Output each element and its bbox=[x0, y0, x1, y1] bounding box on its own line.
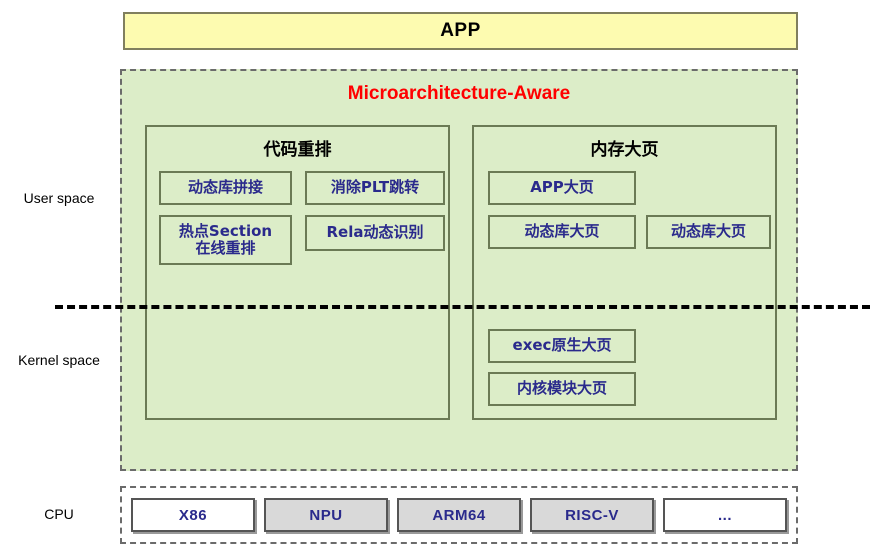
chip-label-line1: 热点Section bbox=[179, 223, 272, 240]
chip-label: exec原生大页 bbox=[513, 337, 612, 354]
chip-dynamic-library-splicing[interactable]: 动态库拼接 bbox=[159, 171, 292, 205]
user-kernel-divider bbox=[55, 305, 870, 309]
cpu-box-label: ... bbox=[718, 507, 732, 524]
microarchitecture-aware-container: Microarchitecture-Aware 代码重排 动态库拼接 消除PLT… bbox=[120, 69, 798, 471]
chip-app-hugepage[interactable]: APP大页 bbox=[488, 171, 636, 205]
app-layer-box: APP bbox=[123, 12, 798, 50]
panel-code-reorder: 代码重排 动态库拼接 消除PLT跳转 热点Section 在线重排 Rela动态… bbox=[145, 125, 450, 420]
chip-label: 动态库大页 bbox=[524, 223, 599, 240]
chip-rela-dynamic-recognition[interactable]: Rela动态识别 bbox=[305, 215, 445, 251]
cpu-box-npu[interactable]: NPU bbox=[264, 498, 388, 532]
panel-memory-hugepage-title: 内存大页 bbox=[474, 135, 775, 160]
cpu-box-label: ARM64 bbox=[432, 507, 485, 524]
chip-plt-jump-elimination[interactable]: 消除PLT跳转 bbox=[305, 171, 445, 205]
chip-label: Rela动态识别 bbox=[327, 224, 424, 241]
panel-memory-hugepage: 内存大页 APP大页 动态库大页 动态库大页 exec原生大页 内核模块大页 bbox=[472, 125, 777, 420]
cpu-label: CPU bbox=[0, 506, 118, 523]
chip-dynamic-library-hugepage-2[interactable]: 动态库大页 bbox=[646, 215, 771, 249]
cpu-box-x86[interactable]: X86 bbox=[131, 498, 255, 532]
chip-label-line2: 在线重排 bbox=[195, 240, 255, 257]
chip-label: 动态库拼接 bbox=[188, 179, 263, 196]
cpu-box-more[interactable]: ... bbox=[663, 498, 787, 532]
cpu-box-arm64[interactable]: ARM64 bbox=[397, 498, 521, 532]
cpu-box-label: RISC-V bbox=[565, 507, 619, 524]
cpu-box-riscv[interactable]: RISC-V bbox=[530, 498, 654, 532]
chip-label: 消除PLT跳转 bbox=[331, 179, 419, 196]
chip-label: 动态库大页 bbox=[671, 223, 746, 240]
chip-exec-native-hugepage[interactable]: exec原生大页 bbox=[488, 329, 636, 363]
chip-label: 内核模块大页 bbox=[517, 380, 607, 397]
microarchitecture-aware-title: Microarchitecture-Aware bbox=[122, 83, 796, 105]
cpu-architectures-container: X86 NPU ARM64 RISC-V ... bbox=[120, 486, 798, 544]
chip-hot-section-online-reorder[interactable]: 热点Section 在线重排 bbox=[159, 215, 292, 265]
cpu-box-label: X86 bbox=[179, 507, 207, 524]
chip-dynamic-library-hugepage-1[interactable]: 动态库大页 bbox=[488, 215, 636, 249]
chip-kernel-module-hugepage[interactable]: 内核模块大页 bbox=[488, 372, 636, 406]
app-layer-title: APP bbox=[440, 20, 481, 42]
panel-code-reorder-title: 代码重排 bbox=[147, 135, 448, 160]
user-space-label: User space bbox=[0, 190, 118, 207]
kernel-space-label: Kernel space bbox=[0, 352, 118, 369]
chip-label: APP大页 bbox=[530, 179, 594, 196]
cpu-box-label: NPU bbox=[309, 507, 342, 524]
